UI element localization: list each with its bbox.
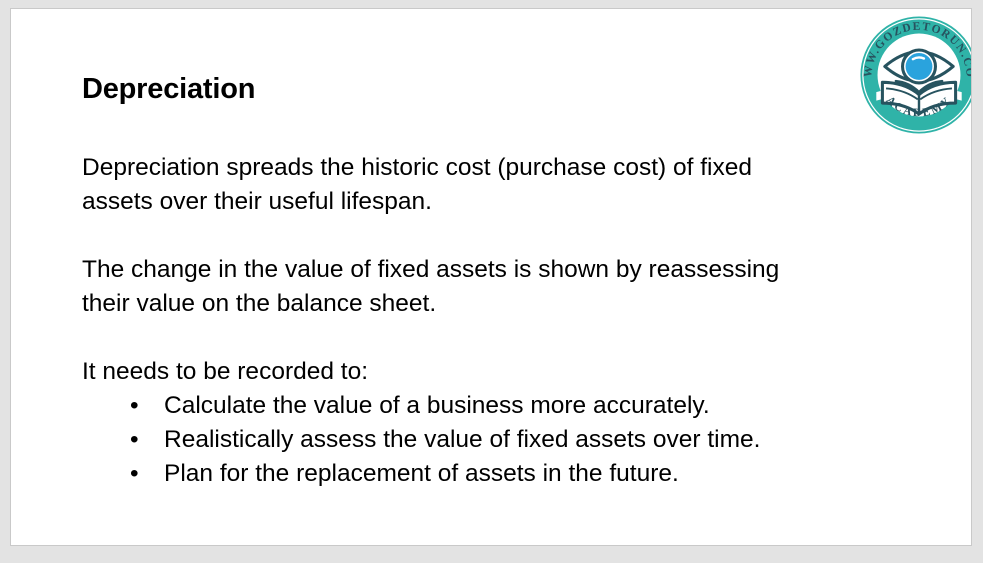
paragraph-1: Depreciation spreads the historic cost (… — [82, 151, 822, 219]
bullet-list: • Calculate the value of a business more… — [82, 389, 882, 491]
presentation-slide: Depreciation Depreciation spreads the hi… — [10, 8, 972, 546]
paragraph-2: The change in the value of fixed assets … — [82, 253, 822, 321]
bullet-marker-icon: • — [130, 423, 139, 457]
academy-logo: WWW.GOZDETORUN.COM ACADEMY — [858, 14, 972, 136]
list-item: • Realistically assess the value of fixe… — [82, 423, 882, 457]
bullet-marker-icon: • — [130, 457, 139, 491]
list-item: • Calculate the value of a business more… — [82, 389, 882, 423]
page-title: Depreciation — [82, 73, 255, 106]
list-item-label: Plan for the replacement of assets in th… — [164, 460, 679, 487]
list-item-label: Calculate the value of a business more a… — [164, 392, 710, 419]
bullet-list-lead-in: It needs to be recorded to: — [82, 355, 882, 389]
list-item-label: Realistically assess the value of fixed … — [164, 426, 760, 453]
list-item: • Plan for the replacement of assets in … — [82, 457, 882, 491]
slide-body: Depreciation spreads the historic cost (… — [82, 151, 882, 491]
bullet-marker-icon: • — [130, 389, 139, 423]
screenshot-canvas: Depreciation Depreciation spreads the hi… — [0, 0, 983, 563]
